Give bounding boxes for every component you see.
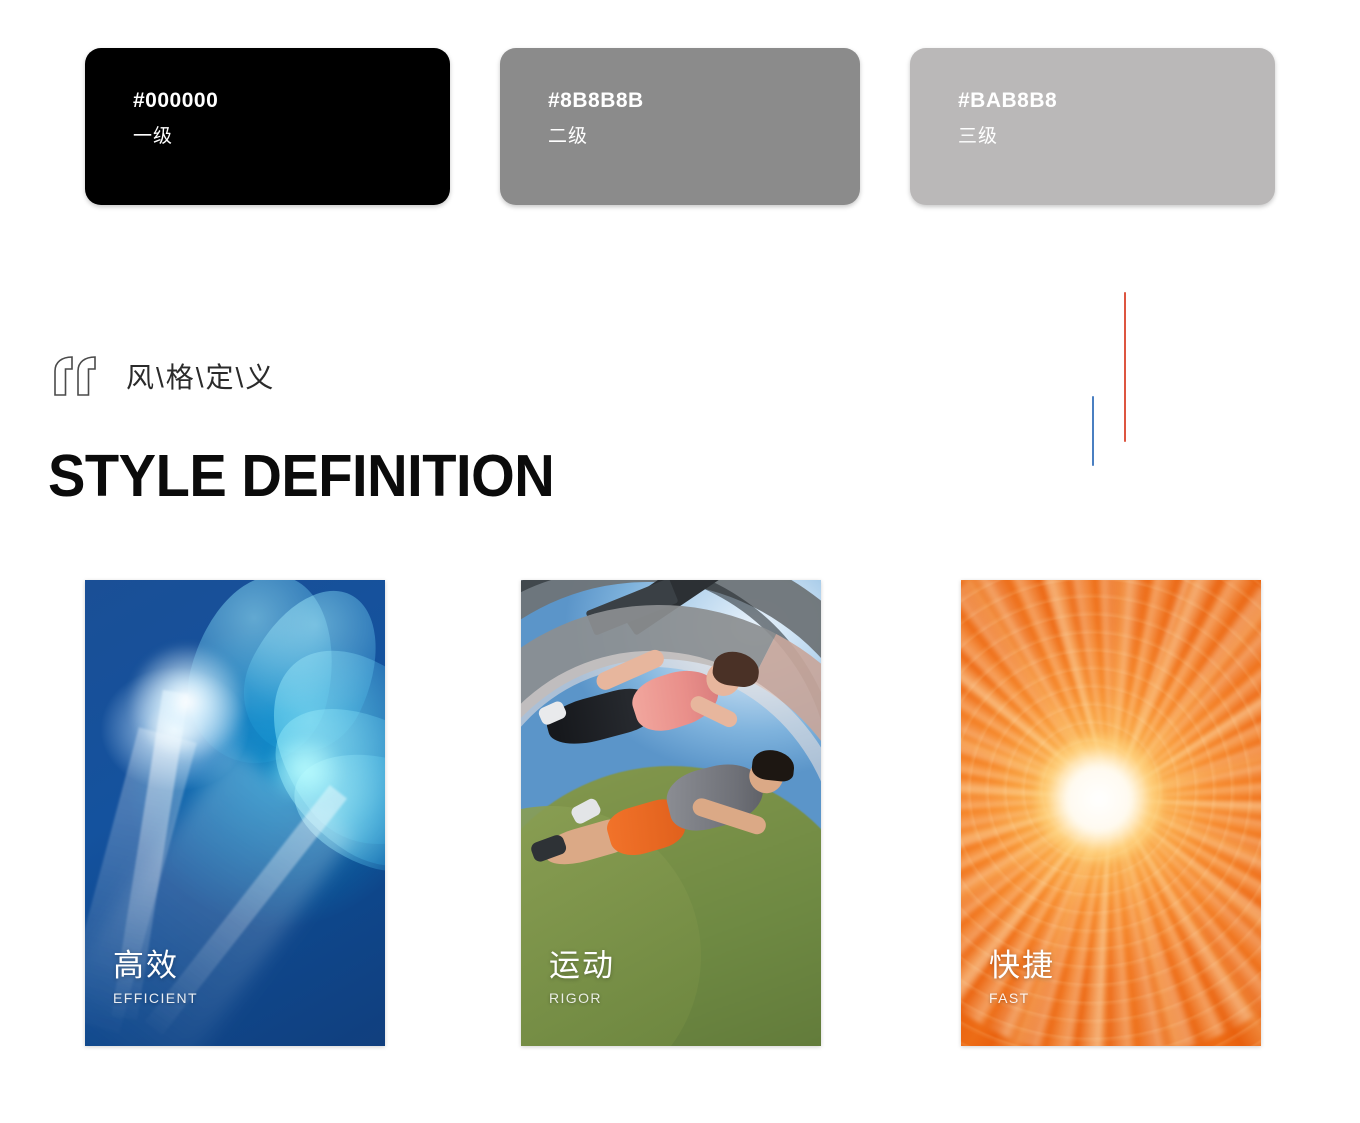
section-eyebrow: 风\格\定\义	[52, 348, 275, 404]
quote-mark-icon	[52, 355, 100, 397]
swatch-hex-label: #8B8B8B	[548, 89, 644, 113]
style-card-caption-en: FAST	[989, 990, 1055, 1006]
color-palette-row: #000000 一级 #8B8B8B 二级 #BAB8B8 三级	[85, 48, 1275, 205]
style-card-caption-cn: 高效	[113, 949, 198, 983]
athlete-male-figure	[523, 742, 808, 929]
section-eyebrow-label: 风\格\定\义	[126, 356, 275, 396]
color-swatch-primary[interactable]: #000000 一级	[85, 48, 450, 205]
style-card-efficient[interactable]: 高效 EFFICIENT	[85, 580, 385, 1046]
style-card-caption: 运动 RIGOR	[549, 949, 615, 1006]
color-swatch-secondary[interactable]: #8B8B8B 二级	[500, 48, 860, 205]
swatch-level-label: 一级	[133, 121, 173, 148]
swatch-hex-label: #BAB8B8	[958, 89, 1057, 113]
vertical-rule-red	[1124, 292, 1126, 442]
page-title: STYLE DEFINITION	[48, 447, 554, 506]
color-swatch-tertiary[interactable]: #BAB8B8 三级	[910, 48, 1275, 205]
style-card-caption: 快捷 FAST	[989, 949, 1055, 1006]
style-card-caption-en: EFFICIENT	[113, 990, 198, 1006]
style-card-fast[interactable]: 快捷 FAST	[961, 580, 1261, 1046]
style-card-caption: 高效 EFFICIENT	[113, 949, 198, 1006]
vertical-rule-blue	[1092, 396, 1094, 466]
style-card-caption-cn: 运动	[549, 949, 615, 983]
swatch-hex-label: #000000	[133, 89, 218, 113]
style-card-rigor[interactable]: 运动 RIGOR	[521, 580, 821, 1046]
swatch-level-label: 二级	[548, 121, 588, 148]
swatch-level-label: 三级	[958, 121, 998, 148]
style-card-caption-en: RIGOR	[549, 990, 615, 1006]
style-card-caption-cn: 快捷	[989, 949, 1055, 983]
